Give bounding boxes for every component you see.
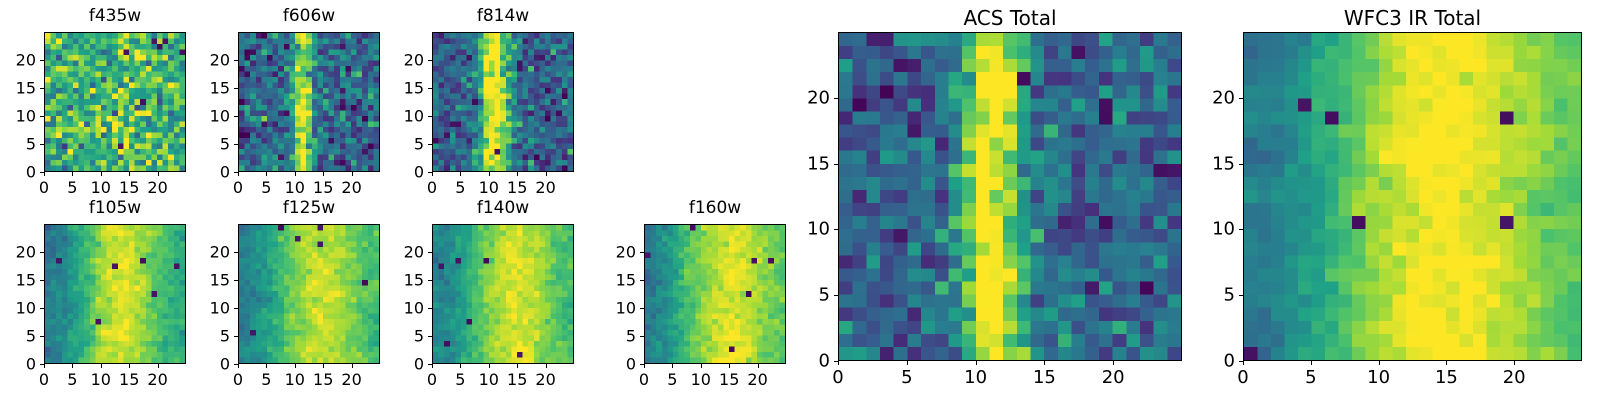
y-tick-label-f160w-2: 10 xyxy=(584,299,636,318)
y-tick-label-f125w-0: 0 xyxy=(178,355,230,374)
x-tick-f435w-1 xyxy=(72,172,73,176)
x-tick-f814w-4 xyxy=(546,172,547,176)
x-tick-f125w-4 xyxy=(352,364,353,368)
panel-wfc3-ir-total: WFC3 IR Total0510152005101520 xyxy=(1183,4,1600,403)
x-tick-label-acs-total-2: 10 xyxy=(964,367,987,388)
y-tick-label-wfc3-ir-total-1: 5 xyxy=(1183,285,1235,306)
y-tick-f814w-4 xyxy=(428,60,432,61)
y-tick-f435w-4 xyxy=(40,60,44,61)
x-tick-label-f160w-3: 15 xyxy=(719,370,739,389)
y-tick-f105w-1 xyxy=(40,336,44,337)
y-tick-f160w-0 xyxy=(640,364,644,365)
y-tick-f105w-3 xyxy=(40,280,44,281)
heatmap-pixels-f105w xyxy=(45,225,185,363)
x-tick-f435w-2 xyxy=(101,172,102,176)
heatmap-acs-total xyxy=(838,32,1182,361)
x-tick-label-f105w-3: 15 xyxy=(119,370,139,389)
y-tick-f105w-2 xyxy=(40,308,44,309)
y-tick-f606w-1 xyxy=(234,144,238,145)
y-tick-wfc3-ir-total-4 xyxy=(1239,98,1243,99)
y-tick-f125w-1 xyxy=(234,336,238,337)
x-tick-label-f160w-1: 5 xyxy=(667,370,677,389)
x-tick-wfc3-ir-total-2 xyxy=(1379,361,1380,365)
y-tick-label-f160w-1: 5 xyxy=(584,327,636,346)
x-tick-f125w-0 xyxy=(238,364,239,368)
x-tick-f105w-0 xyxy=(44,364,45,368)
x-tick-f606w-2 xyxy=(295,172,296,176)
y-tick-label-f814w-4: 20 xyxy=(372,51,424,70)
x-tick-label-f606w-0: 0 xyxy=(233,178,243,197)
y-tick-label-f435w-3: 15 xyxy=(0,79,36,98)
heatmap-pixels-acs-total xyxy=(839,33,1181,360)
x-tick-f140w-4 xyxy=(546,364,547,368)
x-tick-f160w-4 xyxy=(758,364,759,368)
x-tick-f435w-0 xyxy=(44,172,45,176)
y-tick-wfc3-ir-total-2 xyxy=(1239,229,1243,230)
y-tick-label-wfc3-ir-total-4: 20 xyxy=(1183,87,1235,108)
y-tick-label-f435w-2: 10 xyxy=(0,107,36,126)
x-tick-f140w-1 xyxy=(460,364,461,368)
y-tick-label-f814w-3: 15 xyxy=(372,79,424,98)
y-tick-wfc3-ir-total-0 xyxy=(1239,361,1243,362)
y-tick-label-f814w-1: 5 xyxy=(372,135,424,154)
y-tick-label-f160w-4: 20 xyxy=(584,243,636,262)
y-tick-f140w-0 xyxy=(428,364,432,365)
x-tick-wfc3-ir-total-4 xyxy=(1514,361,1515,365)
y-tick-f606w-3 xyxy=(234,88,238,89)
x-tick-f140w-0 xyxy=(432,364,433,368)
y-tick-label-f140w-0: 0 xyxy=(372,355,424,374)
x-tick-f125w-1 xyxy=(266,364,267,368)
y-tick-label-f105w-1: 5 xyxy=(0,327,36,346)
y-tick-label-f105w-0: 0 xyxy=(0,355,36,374)
x-tick-label-f125w-1: 5 xyxy=(261,370,271,389)
x-tick-label-f814w-2: 10 xyxy=(479,178,499,197)
y-tick-acs-total-1 xyxy=(834,295,838,296)
y-tick-label-f125w-3: 15 xyxy=(178,271,230,290)
x-tick-f125w-3 xyxy=(323,364,324,368)
panel-acs-total: ACS Total0510152005101520 xyxy=(778,4,1242,403)
x-tick-label-acs-total-0: 0 xyxy=(832,367,843,388)
x-tick-label-f160w-2: 10 xyxy=(691,370,711,389)
y-tick-label-f435w-1: 5 xyxy=(0,135,36,154)
x-tick-wfc3-ir-total-3 xyxy=(1446,361,1447,365)
y-tick-f814w-2 xyxy=(428,116,432,117)
y-tick-label-acs-total-1: 5 xyxy=(778,285,830,306)
x-tick-f105w-1 xyxy=(72,364,73,368)
heatmap-pixels-f140w xyxy=(433,225,573,363)
x-tick-label-f435w-1: 5 xyxy=(67,178,77,197)
x-tick-f606w-4 xyxy=(352,172,353,176)
y-tick-acs-total-0 xyxy=(834,361,838,362)
x-tick-f435w-4 xyxy=(158,172,159,176)
x-tick-label-f606w-3: 15 xyxy=(313,178,333,197)
x-tick-label-f606w-2: 10 xyxy=(285,178,305,197)
y-tick-label-f105w-4: 20 xyxy=(0,243,36,262)
heatmap-f125w xyxy=(238,224,380,364)
x-tick-f125w-2 xyxy=(295,364,296,368)
y-tick-f435w-3 xyxy=(40,88,44,89)
x-tick-f435w-3 xyxy=(129,172,130,176)
y-tick-f606w-2 xyxy=(234,116,238,117)
x-tick-label-f814w-4: 20 xyxy=(535,178,555,197)
x-tick-wfc3-ir-total-0 xyxy=(1243,361,1244,365)
y-tick-f125w-4 xyxy=(234,252,238,253)
x-tick-label-f105w-1: 5 xyxy=(67,370,77,389)
y-tick-f606w-0 xyxy=(234,172,238,173)
x-tick-f140w-2 xyxy=(489,364,490,368)
y-tick-f125w-3 xyxy=(234,280,238,281)
x-tick-acs-total-3 xyxy=(1044,361,1045,365)
y-tick-f160w-4 xyxy=(640,252,644,253)
y-tick-label-wfc3-ir-total-0: 0 xyxy=(1183,351,1235,372)
y-tick-label-wfc3-ir-total-3: 15 xyxy=(1183,153,1235,174)
y-tick-label-f606w-0: 0 xyxy=(178,163,230,182)
y-tick-f160w-1 xyxy=(640,336,644,337)
x-tick-label-f140w-4: 20 xyxy=(535,370,555,389)
y-tick-label-f606w-3: 15 xyxy=(178,79,230,98)
y-tick-f435w-2 xyxy=(40,116,44,117)
heatmap-f105w xyxy=(44,224,186,364)
x-tick-f105w-2 xyxy=(101,364,102,368)
y-tick-label-f125w-4: 20 xyxy=(178,243,230,262)
y-tick-label-f140w-3: 15 xyxy=(372,271,424,290)
x-tick-label-f105w-2: 10 xyxy=(91,370,111,389)
x-tick-acs-total-0 xyxy=(838,361,839,365)
x-tick-label-f160w-0: 0 xyxy=(639,370,649,389)
y-tick-wfc3-ir-total-1 xyxy=(1239,295,1243,296)
y-tick-label-f105w-2: 10 xyxy=(0,299,36,318)
y-tick-label-acs-total-2: 10 xyxy=(778,219,830,240)
x-tick-f606w-3 xyxy=(323,172,324,176)
x-tick-label-acs-total-3: 15 xyxy=(1033,367,1056,388)
x-tick-label-f105w-0: 0 xyxy=(39,370,49,389)
y-tick-label-f435w-4: 20 xyxy=(0,51,36,70)
x-tick-label-f125w-3: 15 xyxy=(313,370,333,389)
y-tick-f125w-0 xyxy=(234,364,238,365)
y-tick-label-acs-total-4: 20 xyxy=(778,87,830,108)
heatmap-pixels-f606w xyxy=(239,33,379,171)
y-tick-f435w-1 xyxy=(40,144,44,145)
x-tick-f160w-1 xyxy=(672,364,673,368)
x-tick-label-f125w-0: 0 xyxy=(233,370,243,389)
y-tick-wfc3-ir-total-3 xyxy=(1239,164,1243,165)
x-tick-f105w-3 xyxy=(129,364,130,368)
y-tick-f814w-1 xyxy=(428,144,432,145)
x-tick-label-f160w-4: 20 xyxy=(747,370,767,389)
y-tick-f140w-3 xyxy=(428,280,432,281)
x-tick-acs-total-2 xyxy=(976,361,977,365)
y-tick-acs-total-3 xyxy=(834,164,838,165)
y-tick-label-f814w-0: 0 xyxy=(372,163,424,182)
y-tick-f814w-0 xyxy=(428,172,432,173)
x-tick-f160w-3 xyxy=(729,364,730,368)
x-tick-label-acs-total-4: 20 xyxy=(1102,367,1125,388)
heatmap-pixels-f814w xyxy=(433,33,573,171)
x-tick-f160w-0 xyxy=(644,364,645,368)
x-tick-label-f606w-1: 5 xyxy=(261,178,271,197)
x-tick-label-f140w-1: 5 xyxy=(455,370,465,389)
heatmap-pixels-f125w xyxy=(239,225,379,363)
x-tick-f160w-2 xyxy=(701,364,702,368)
heatmap-f435w xyxy=(44,32,186,172)
heatmap-pixels-f160w xyxy=(645,225,785,363)
x-tick-label-f125w-2: 10 xyxy=(285,370,305,389)
x-tick-f814w-1 xyxy=(460,172,461,176)
y-tick-label-f140w-1: 5 xyxy=(372,327,424,346)
x-tick-label-f105w-4: 20 xyxy=(147,370,167,389)
heatmap-f140w xyxy=(432,224,574,364)
x-tick-f606w-1 xyxy=(266,172,267,176)
x-tick-f814w-3 xyxy=(517,172,518,176)
y-tick-f105w-0 xyxy=(40,364,44,365)
x-tick-label-wfc3-ir-total-2: 10 xyxy=(1367,367,1390,388)
y-tick-label-f606w-2: 10 xyxy=(178,107,230,126)
y-tick-label-f160w-0: 0 xyxy=(584,355,636,374)
x-tick-acs-total-1 xyxy=(907,361,908,365)
y-tick-label-f125w-2: 10 xyxy=(178,299,230,318)
x-tick-f814w-0 xyxy=(432,172,433,176)
x-tick-label-wfc3-ir-total-1: 5 xyxy=(1305,367,1316,388)
heatmap-f160w xyxy=(644,224,786,364)
y-tick-label-f814w-2: 10 xyxy=(372,107,424,126)
x-tick-label-f606w-4: 20 xyxy=(341,178,361,197)
x-tick-label-f814w-1: 5 xyxy=(455,178,465,197)
y-tick-f814w-3 xyxy=(428,88,432,89)
y-tick-f435w-0 xyxy=(40,172,44,173)
x-tick-f105w-4 xyxy=(158,364,159,368)
y-tick-f140w-1 xyxy=(428,336,432,337)
heatmap-f814w xyxy=(432,32,574,172)
x-tick-f606w-0 xyxy=(238,172,239,176)
x-tick-label-f814w-3: 15 xyxy=(507,178,527,197)
y-tick-label-f140w-4: 20 xyxy=(372,243,424,262)
x-tick-label-f125w-4: 20 xyxy=(341,370,361,389)
x-tick-label-f435w-4: 20 xyxy=(147,178,167,197)
panel-title-wfc3-ir-total: WFC3 IR Total xyxy=(1183,6,1600,30)
heatmap-wfc3-ir-total xyxy=(1243,32,1582,361)
x-tick-label-acs-total-1: 5 xyxy=(901,367,912,388)
y-tick-label-acs-total-3: 15 xyxy=(778,153,830,174)
x-tick-wfc3-ir-total-1 xyxy=(1311,361,1312,365)
x-tick-label-f435w-2: 10 xyxy=(91,178,111,197)
y-tick-label-f606w-1: 5 xyxy=(178,135,230,154)
x-tick-label-f435w-3: 15 xyxy=(119,178,139,197)
y-tick-label-f606w-4: 20 xyxy=(178,51,230,70)
y-tick-label-acs-total-0: 0 xyxy=(778,351,830,372)
x-tick-label-f140w-0: 0 xyxy=(427,370,437,389)
x-tick-label-wfc3-ir-total-3: 15 xyxy=(1435,367,1458,388)
x-tick-acs-total-4 xyxy=(1113,361,1114,365)
y-tick-label-f140w-2: 10 xyxy=(372,299,424,318)
x-tick-label-f435w-0: 0 xyxy=(39,178,49,197)
x-tick-label-f814w-0: 0 xyxy=(427,178,437,197)
x-tick-f814w-2 xyxy=(489,172,490,176)
y-tick-f105w-4 xyxy=(40,252,44,253)
y-tick-f160w-3 xyxy=(640,280,644,281)
y-tick-acs-total-2 xyxy=(834,229,838,230)
panel-title-acs-total: ACS Total xyxy=(778,6,1242,30)
x-tick-label-wfc3-ir-total-4: 20 xyxy=(1503,367,1526,388)
x-tick-label-f140w-3: 15 xyxy=(507,370,527,389)
heatmap-f606w xyxy=(238,32,380,172)
y-tick-acs-total-4 xyxy=(834,98,838,99)
x-tick-label-f140w-2: 10 xyxy=(479,370,499,389)
x-tick-label-wfc3-ir-total-0: 0 xyxy=(1237,367,1248,388)
y-tick-f125w-2 xyxy=(234,308,238,309)
y-tick-f160w-2 xyxy=(640,308,644,309)
y-tick-label-f160w-3: 15 xyxy=(584,271,636,290)
y-tick-label-f125w-1: 5 xyxy=(178,327,230,346)
heatmap-pixels-wfc3-ir-total xyxy=(1244,33,1581,360)
y-tick-label-wfc3-ir-total-2: 10 xyxy=(1183,219,1235,240)
panel-f814w: f814w0510152005101520 xyxy=(372,4,634,214)
y-tick-label-f435w-0: 0 xyxy=(0,163,36,182)
panel-title-f814w: f814w xyxy=(372,6,634,26)
y-tick-f140w-4 xyxy=(428,252,432,253)
y-tick-label-f105w-3: 15 xyxy=(0,271,36,290)
x-tick-f140w-3 xyxy=(517,364,518,368)
heatmap-pixels-f435w xyxy=(45,33,185,171)
y-tick-f606w-4 xyxy=(234,60,238,61)
y-tick-f140w-2 xyxy=(428,308,432,309)
